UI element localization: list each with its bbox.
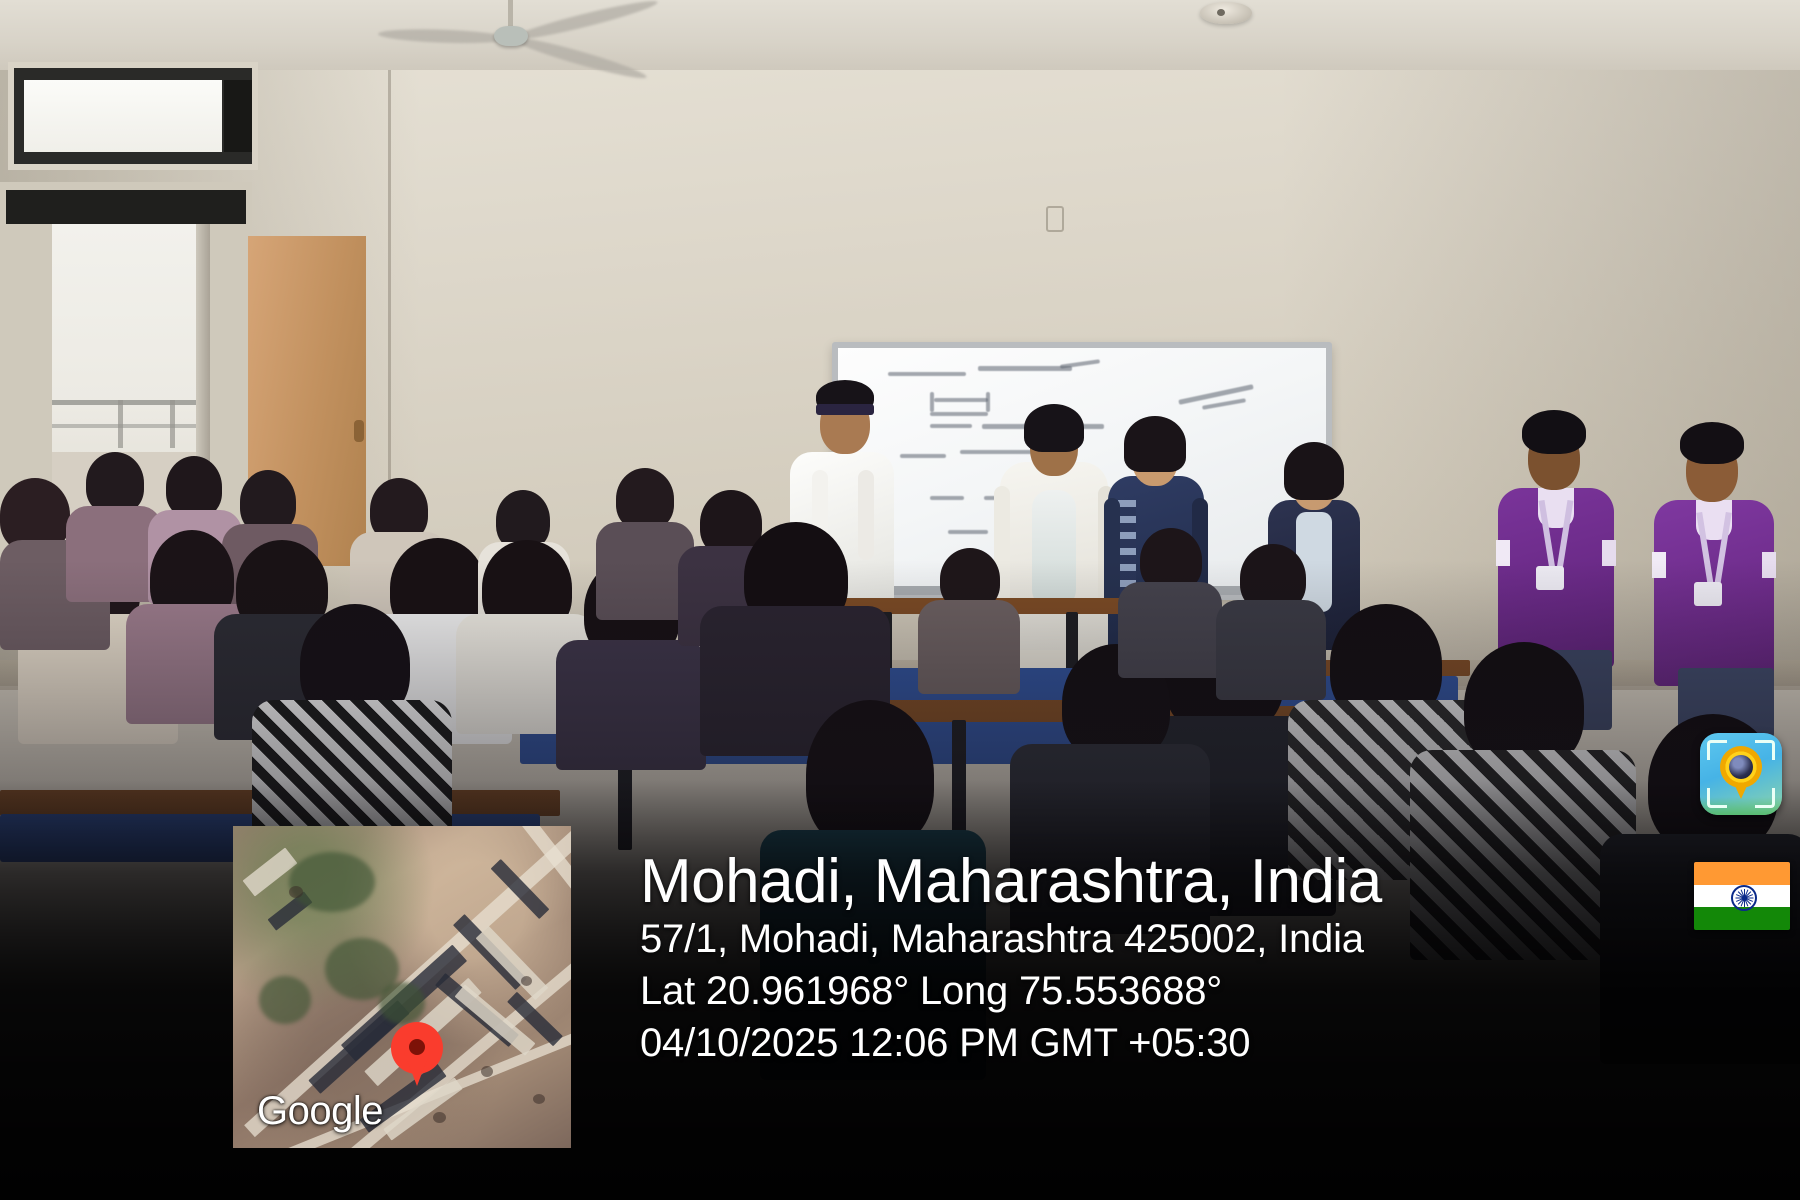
smoke-detector bbox=[1200, 2, 1252, 24]
transom-window bbox=[8, 62, 258, 170]
datetime-line: 04/10/2025 12:06 PM GMT +05:30 bbox=[640, 1017, 1710, 1069]
photo-canvas: Google Mohadi, Maharashtra, India 57/1, … bbox=[0, 0, 1800, 1200]
google-watermark: Google bbox=[257, 1089, 383, 1134]
map-thumbnail[interactable]: Google bbox=[233, 826, 571, 1148]
location-title: Mohadi, Maharashtra, India bbox=[640, 850, 1710, 913]
coordinates-line: Lat 20.961968° Long 75.553688° bbox=[640, 965, 1710, 1017]
ceiling bbox=[0, 0, 1800, 70]
address-line: 57/1, Mohadi, Maharashtra 425002, India bbox=[640, 913, 1710, 965]
gps-map-camera-icon[interactable] bbox=[1700, 733, 1782, 815]
gps-info-block: Mohadi, Maharashtra, India 57/1, Mohadi,… bbox=[640, 850, 1710, 1069]
wall-mark bbox=[1046, 206, 1064, 232]
location-pin-icon bbox=[391, 1022, 443, 1088]
